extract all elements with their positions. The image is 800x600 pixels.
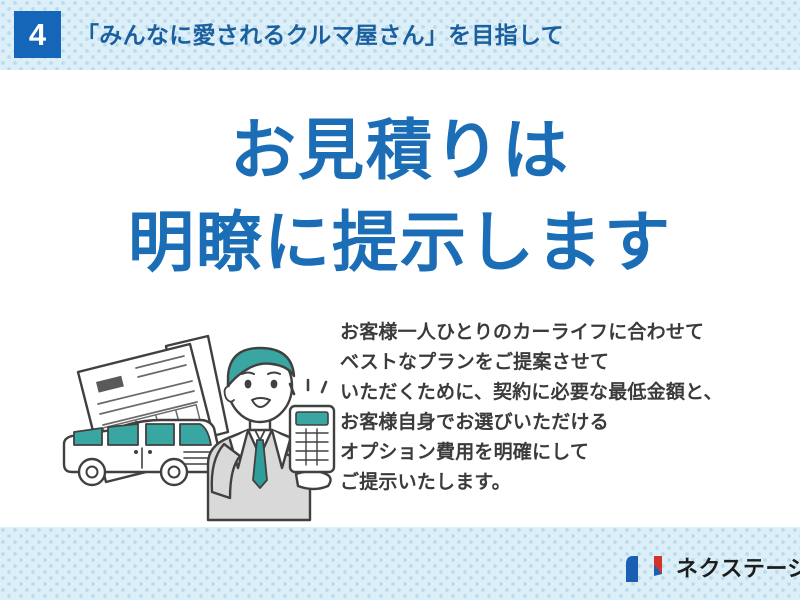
brand-logo: ネクステージ xyxy=(624,549,800,589)
body-copy-line-2: ベストなプランをご提案させて xyxy=(340,348,770,378)
body-copy-line-6: ご提示いたします。 xyxy=(340,468,770,498)
headline: お見積りは 明瞭に提示します xyxy=(0,104,800,288)
illustration xyxy=(58,328,338,523)
body-copy: お客様一人ひとりのカーライフに合わせて ベストなプランをご提案させて いただくた… xyxy=(340,318,770,498)
body-copy-line-1: お客様一人ひとりのカーライフに合わせて xyxy=(340,318,770,348)
step-number-badge: 4 xyxy=(14,11,61,58)
brand-logo-text: ネクステージ xyxy=(676,554,800,584)
body-copy-line-4: お客様自身でお選びいただける xyxy=(340,408,770,438)
headline-line-1: お見積りは xyxy=(0,104,800,196)
headline-line-2: 明瞭に提示します xyxy=(0,196,800,288)
nexstage-n-logo-icon xyxy=(624,554,668,584)
slide-root: 4 「みんなに愛されるクルマ屋さん」を目指して お見積りは 明瞭に提示します xyxy=(0,0,800,600)
salesman-with-estimate-and-car-icon xyxy=(58,328,338,523)
body-copy-line-3: いただくために、契約に必要な最低金額と、 xyxy=(340,378,770,408)
header-title: 「みんなに愛されるクルマ屋さん」を目指して xyxy=(76,18,564,52)
body-copy-line-5: オプション費用を明確にして xyxy=(340,438,770,468)
